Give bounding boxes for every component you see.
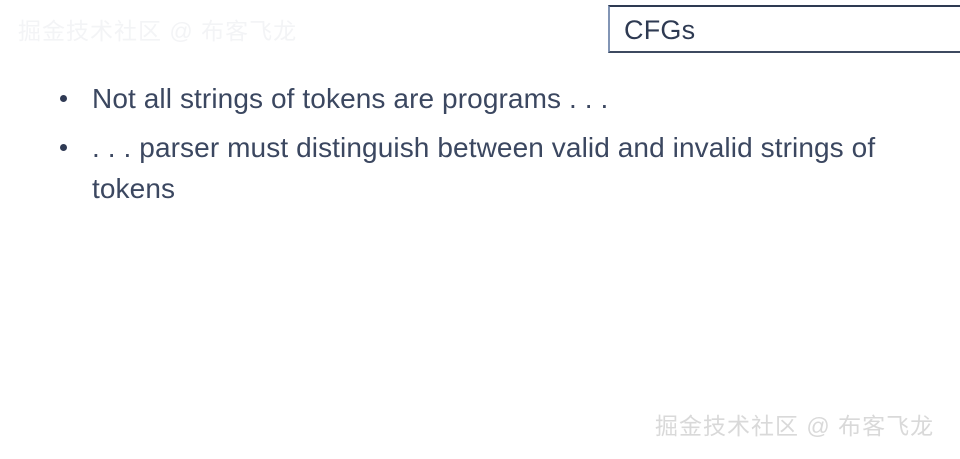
watermark-top-left: 掘金技术社区 @ 布客飞龙 <box>18 16 297 46</box>
list-item: Not all strings of tokens are programs .… <box>55 78 925 119</box>
list-item: . . . parser must distinguish between va… <box>55 127 925 209</box>
bullet-list: Not all strings of tokens are programs .… <box>55 78 925 217</box>
bullet-dot-icon <box>60 95 67 102</box>
list-item-label: Not all strings of tokens are programs .… <box>92 78 925 119</box>
watermark-bottom-right: 掘金技术社区 @ 布客飞龙 <box>655 410 934 442</box>
list-item-label: . . . parser must distinguish between va… <box>92 127 925 209</box>
bullet-dot-icon <box>60 144 67 151</box>
page-title: CFGs <box>624 13 695 47</box>
slide-canvas: 掘金技术社区 @ 布客飞龙 CFGs Not all strings of to… <box>0 0 960 459</box>
slide-title-box: CFGs <box>608 5 960 53</box>
